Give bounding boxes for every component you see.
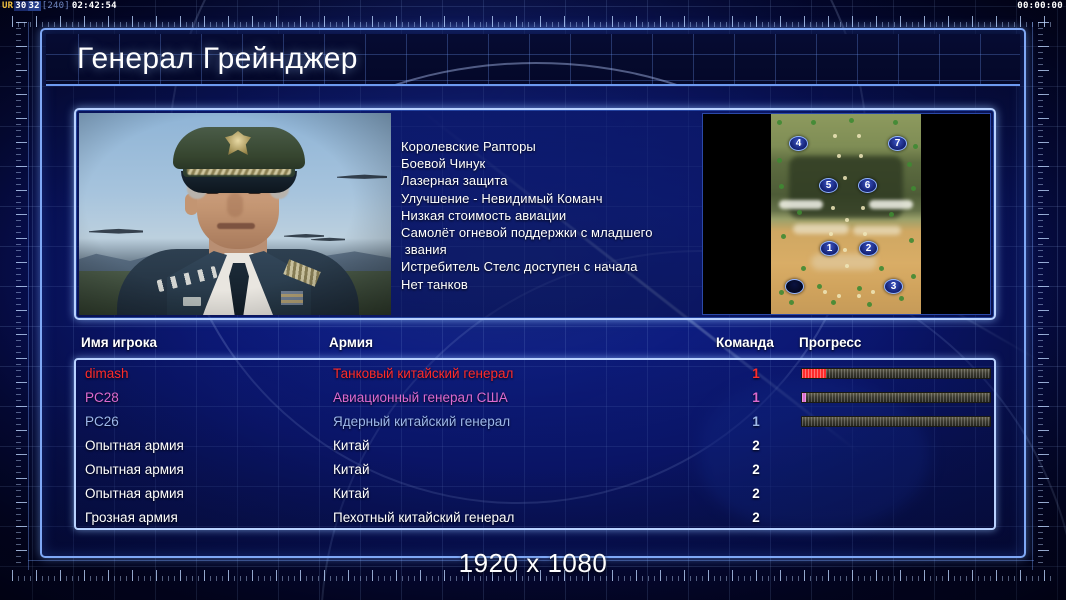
map-tree-marker xyxy=(781,234,786,239)
ability-item: Нет танков xyxy=(401,276,701,293)
player-team: 2 xyxy=(746,434,766,458)
progress-bar-fill xyxy=(802,393,806,402)
ability-item: Улучшение - Невидимый Команч xyxy=(401,190,701,207)
map-resource-marker xyxy=(837,294,841,298)
map-start-position-5: 5 xyxy=(819,178,838,193)
player-army: Ядерный китайский генерал xyxy=(333,410,510,434)
fps-value-secondary: 32 xyxy=(28,1,41,11)
map-tree-marker xyxy=(817,284,822,289)
map-tree-marker xyxy=(797,210,802,215)
map-terrain-feature xyxy=(793,224,849,234)
map-start-position-2: 2 xyxy=(859,241,878,256)
player-name: Опытная армия xyxy=(85,482,184,506)
map-tree-marker xyxy=(913,144,918,149)
player-table: dimashТанковый китайский генерал1PC28Ави… xyxy=(74,358,996,530)
map-resource-marker xyxy=(829,232,833,236)
frame-ruler-right xyxy=(1038,22,1049,566)
map-tree-marker xyxy=(911,186,916,191)
frame-line-right xyxy=(1032,22,1033,570)
map-resource-marker xyxy=(843,248,847,252)
player-army: Авиационный генерал США xyxy=(333,386,508,410)
map-tree-marker xyxy=(899,296,904,301)
player-army: Пехотный китайский генерал xyxy=(333,506,514,530)
map-resource-marker xyxy=(823,290,827,294)
screen-root: UR3032[240]02:42:54 00:00:00 Генерал Гре… xyxy=(0,0,1066,600)
general-abilities-list: Королевские Рапторы Боевой Чинук Лазерна… xyxy=(401,138,701,293)
player-table-header: Имя игрока Армия Команда Прогресс xyxy=(74,335,996,357)
map-tree-marker xyxy=(777,158,782,163)
player-army: Китай xyxy=(333,434,370,458)
player-name: PC26 xyxy=(85,410,119,434)
resolution-label: 1920 x 1080 xyxy=(0,548,1066,579)
countdown-timer: 00:00:00 xyxy=(1017,0,1063,13)
map-resource-marker xyxy=(857,294,861,298)
table-row[interactable]: dimashТанковый китайский генерал1 xyxy=(76,362,994,386)
map-tree-marker xyxy=(849,118,854,123)
ability-item: звания xyxy=(401,241,701,258)
player-team: 2 xyxy=(746,506,766,530)
column-header-team: Команда xyxy=(716,335,774,350)
ability-item: Низкая стоимость авиации xyxy=(401,207,701,224)
frame-line-left xyxy=(28,22,29,570)
player-name: Грозная армия xyxy=(85,506,178,530)
map-resource-marker xyxy=(857,134,861,138)
elapsed-time: 02:42:54 xyxy=(71,1,118,11)
map-resource-marker xyxy=(837,154,841,158)
map-resource-marker xyxy=(833,134,837,138)
player-army: Китай xyxy=(333,482,370,506)
map-start-position-3: 3 xyxy=(884,279,903,294)
map-tree-marker xyxy=(857,286,862,291)
player-name: Опытная армия xyxy=(85,458,184,482)
map-resource-marker xyxy=(863,232,867,236)
map-start-position-7: 7 xyxy=(888,136,907,151)
map-terrain-feature xyxy=(779,200,823,209)
table-row[interactable]: Опытная армияКитай2 xyxy=(76,482,994,506)
progress-bar xyxy=(801,416,991,427)
map-tree-marker xyxy=(909,238,914,243)
player-team: 1 xyxy=(746,362,766,386)
main-window: Генерал Грейнджер xyxy=(40,28,1026,558)
map-terrain-feature xyxy=(869,200,913,209)
player-army: Китай xyxy=(333,458,370,482)
fps-counter: UR3032[240]02:42:54 xyxy=(1,0,118,13)
map-start-position-empty xyxy=(785,279,804,294)
fps-bracket-value: [240] xyxy=(41,1,71,11)
ability-item: Боевой Чинук xyxy=(401,155,701,172)
map-resource-marker xyxy=(861,206,865,210)
map-tree-marker xyxy=(779,184,784,189)
player-team: 1 xyxy=(746,386,766,410)
portrait-vignette xyxy=(79,113,391,315)
map-tree-marker xyxy=(811,120,816,125)
page-title: Генерал Грейнджер xyxy=(77,42,358,76)
map-resource-marker xyxy=(859,154,863,158)
map-terrain-feature xyxy=(853,226,901,235)
map-tree-marker xyxy=(777,120,782,125)
map-start-position-1: 1 xyxy=(820,241,839,256)
player-name: PC28 xyxy=(85,386,119,410)
general-info-panel: Королевские Рапторы Боевой Чинук Лазерна… xyxy=(74,108,996,320)
map-tree-marker xyxy=(893,120,898,125)
general-portrait xyxy=(79,113,391,315)
ability-item: Самолёт огневой поддержки с младшего xyxy=(401,224,701,241)
column-header-army: Армия xyxy=(329,335,373,350)
player-army: Танковый китайский генерал xyxy=(333,362,513,386)
map-resource-marker xyxy=(831,206,835,210)
player-name: dimash xyxy=(85,362,129,386)
ability-item: Королевские Рапторы xyxy=(401,138,701,155)
map-resource-marker xyxy=(845,264,849,268)
map-tree-marker xyxy=(879,266,884,271)
player-team: 2 xyxy=(746,458,766,482)
map-tree-marker xyxy=(789,300,794,305)
column-header-progress: Прогресс xyxy=(799,335,861,350)
map-resource-marker xyxy=(843,176,847,180)
map-terrain: 4756123 xyxy=(771,114,921,315)
map-start-position-6: 6 xyxy=(858,178,877,193)
map-tree-marker xyxy=(889,212,894,217)
map-tree-marker xyxy=(911,274,916,279)
frame-ruler-left xyxy=(16,22,27,566)
map-resource-marker xyxy=(845,218,849,222)
map-tree-marker xyxy=(831,300,836,305)
frame-ruler-top xyxy=(12,16,1052,27)
table-row[interactable]: Грозная армияПехотный китайский генерал2 xyxy=(76,506,994,530)
map-tree-marker xyxy=(801,266,806,271)
ability-item: Истребитель Стелс доступен с начала xyxy=(401,258,701,275)
table-row[interactable]: Опытная армияКитай2 xyxy=(76,458,994,482)
player-team: 2 xyxy=(746,482,766,506)
column-header-name: Имя игрока xyxy=(81,335,157,350)
table-row[interactable]: Опытная армияКитай2 xyxy=(76,434,994,458)
progress-bar xyxy=(801,392,991,403)
map-preview[interactable]: 4756123 xyxy=(702,113,991,315)
map-tree-marker xyxy=(779,290,784,295)
map-tree-marker xyxy=(907,162,912,167)
map-terrain-feature xyxy=(811,254,877,270)
table-row[interactable]: PC28Авиационный генерал США1 xyxy=(76,386,994,410)
progress-bar-fill xyxy=(802,369,826,378)
fps-tag: UR xyxy=(1,1,14,11)
map-start-position-4: 4 xyxy=(789,136,808,151)
ability-item: Лазерная защита xyxy=(401,172,701,189)
stats-overlay-bar: UR3032[240]02:42:54 00:00:00 xyxy=(0,0,1066,13)
player-name: Опытная армия xyxy=(85,434,184,458)
map-tree-marker xyxy=(867,302,872,307)
fps-value: 30 xyxy=(14,1,27,11)
player-team: 1 xyxy=(746,410,766,434)
map-resource-marker xyxy=(871,290,875,294)
window-titlebar: Генерал Грейнджер xyxy=(46,34,1020,86)
table-row[interactable]: PC26Ядерный китайский генерал1 xyxy=(76,410,994,434)
progress-bar xyxy=(801,368,991,379)
